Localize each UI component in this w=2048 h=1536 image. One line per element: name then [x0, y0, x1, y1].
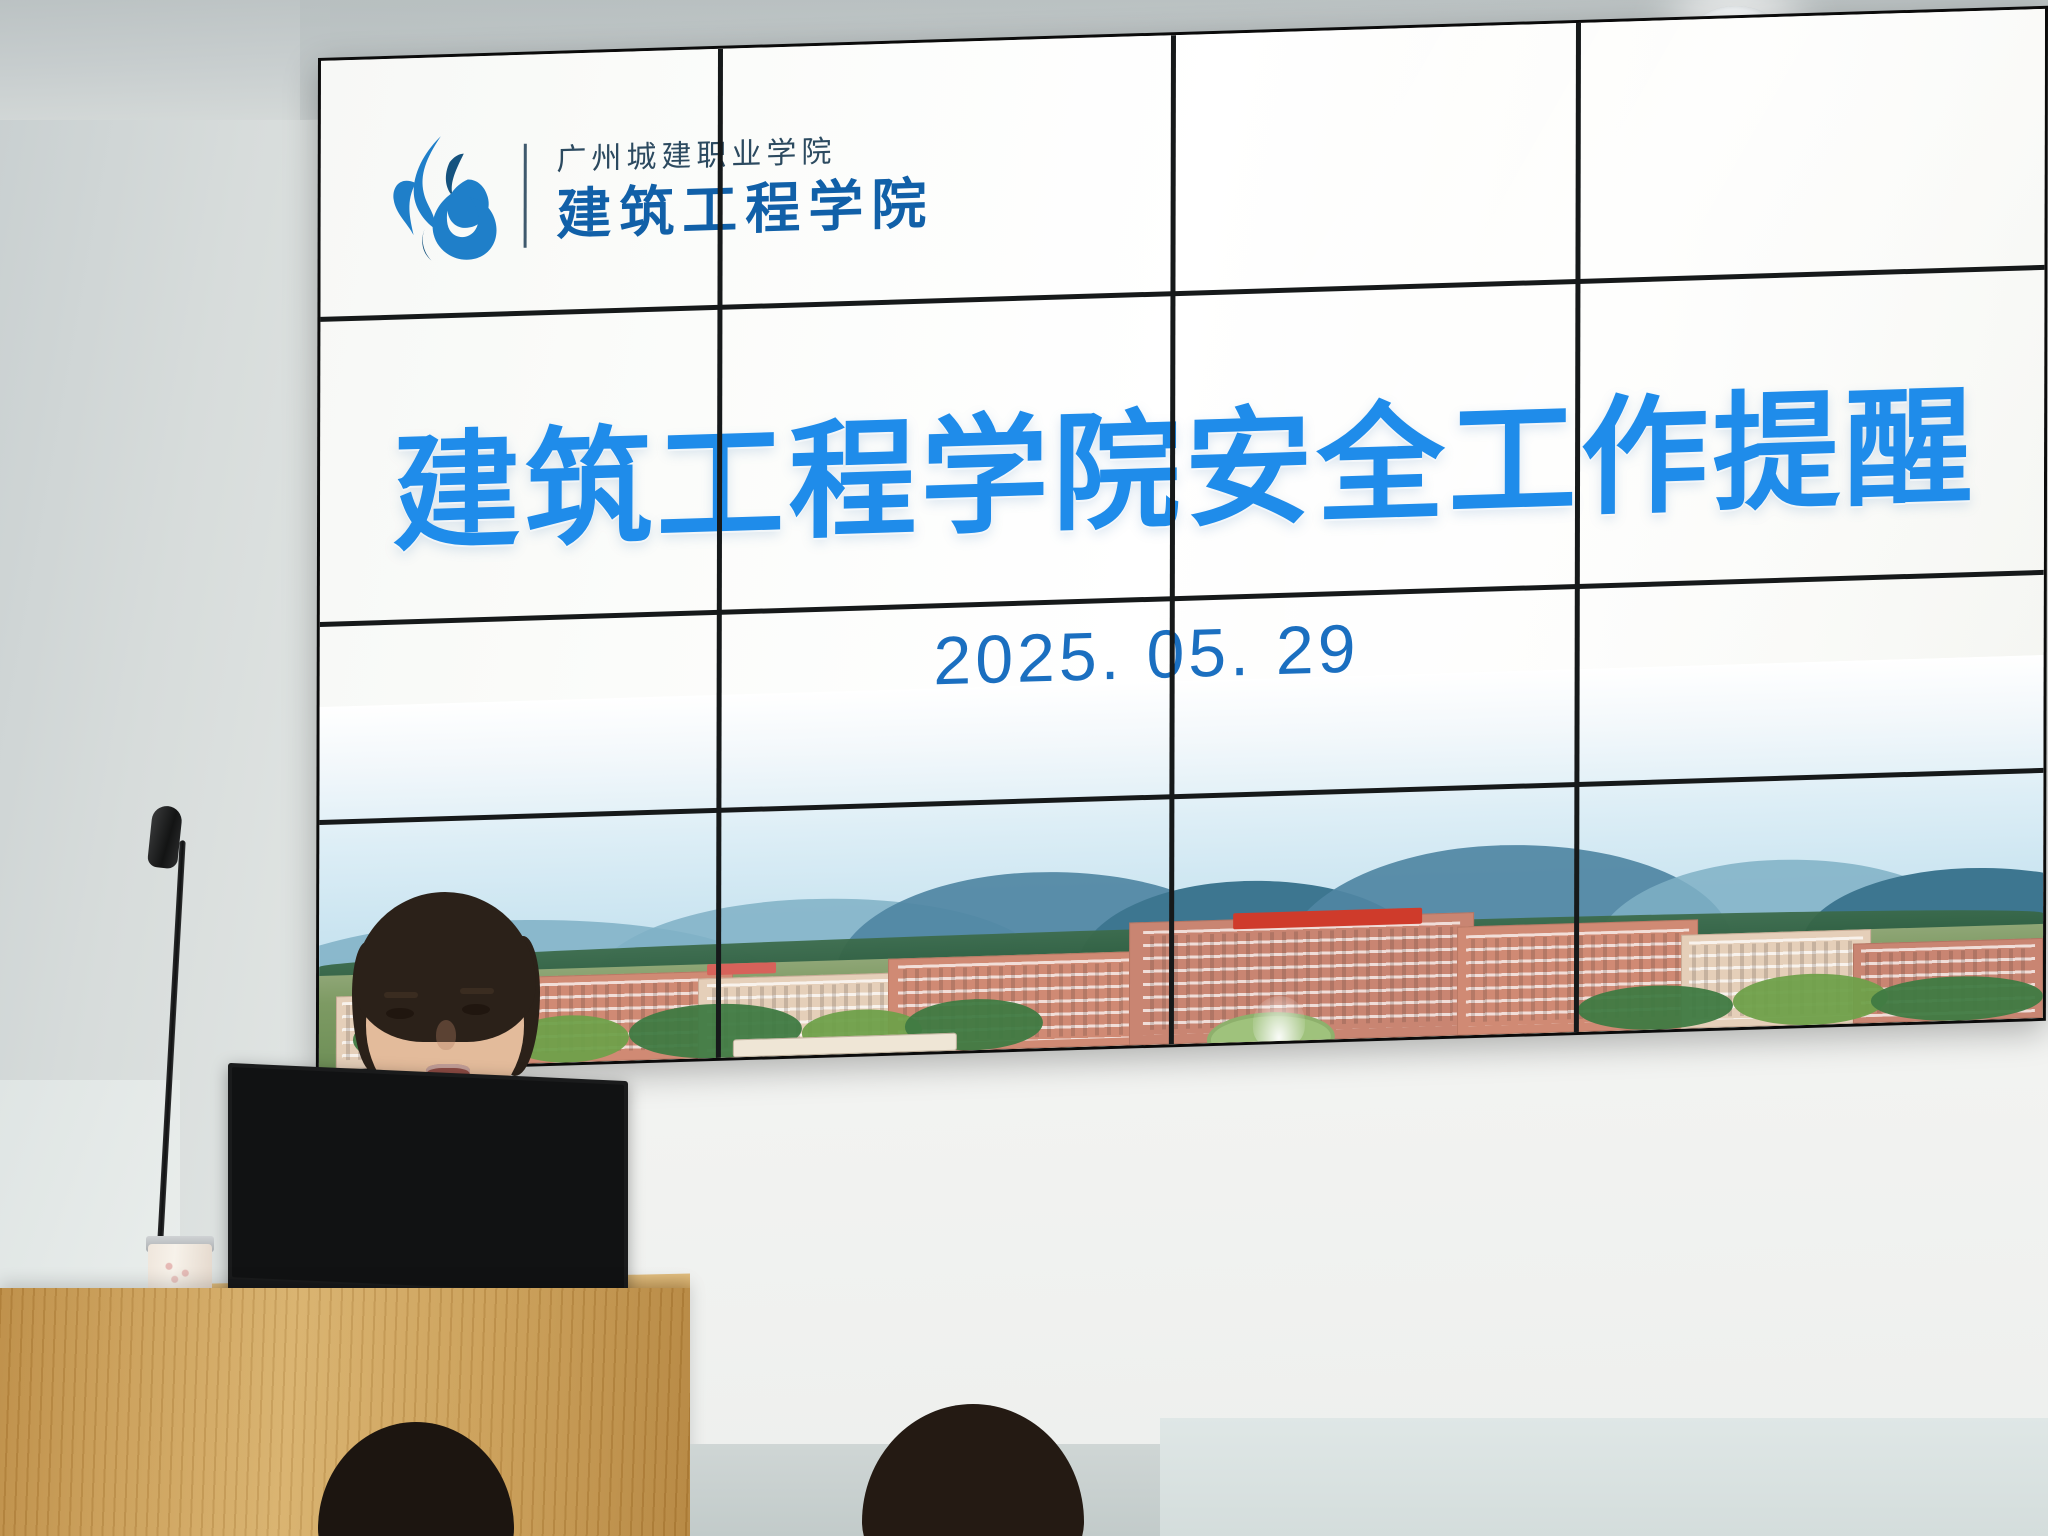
slide-logo-block: 广州城建职业学院 建筑工程学院	[379, 115, 934, 268]
department-name: 建筑工程学院	[556, 177, 934, 243]
confidence-monitor[interactable]	[228, 1063, 628, 1325]
photo-fountain-jet	[1253, 995, 1305, 1049]
presenter-eye	[462, 1004, 490, 1015]
photo-roof-sign	[707, 962, 776, 975]
presenter-eye	[386, 1008, 414, 1019]
presenter-eyebrow	[384, 992, 418, 998]
logo-divider	[523, 143, 526, 247]
right-foreground-wall	[1160, 1418, 2048, 1536]
presenter-nose	[436, 1020, 456, 1050]
monitor-screen	[232, 1067, 624, 1295]
slide-date: 2025. 05. 29	[933, 610, 1359, 701]
institution-name: 广州城建职业学院	[556, 135, 934, 176]
presenter-eyebrow	[460, 988, 494, 994]
presentation-room-scene: 广州城建职业学院 建筑工程学院 建筑工程学院安全工作提醒 2025. 05. 2…	[0, 0, 2048, 1536]
blue-flame-logo-icon	[379, 128, 497, 268]
thermos-pattern	[158, 1257, 202, 1288]
